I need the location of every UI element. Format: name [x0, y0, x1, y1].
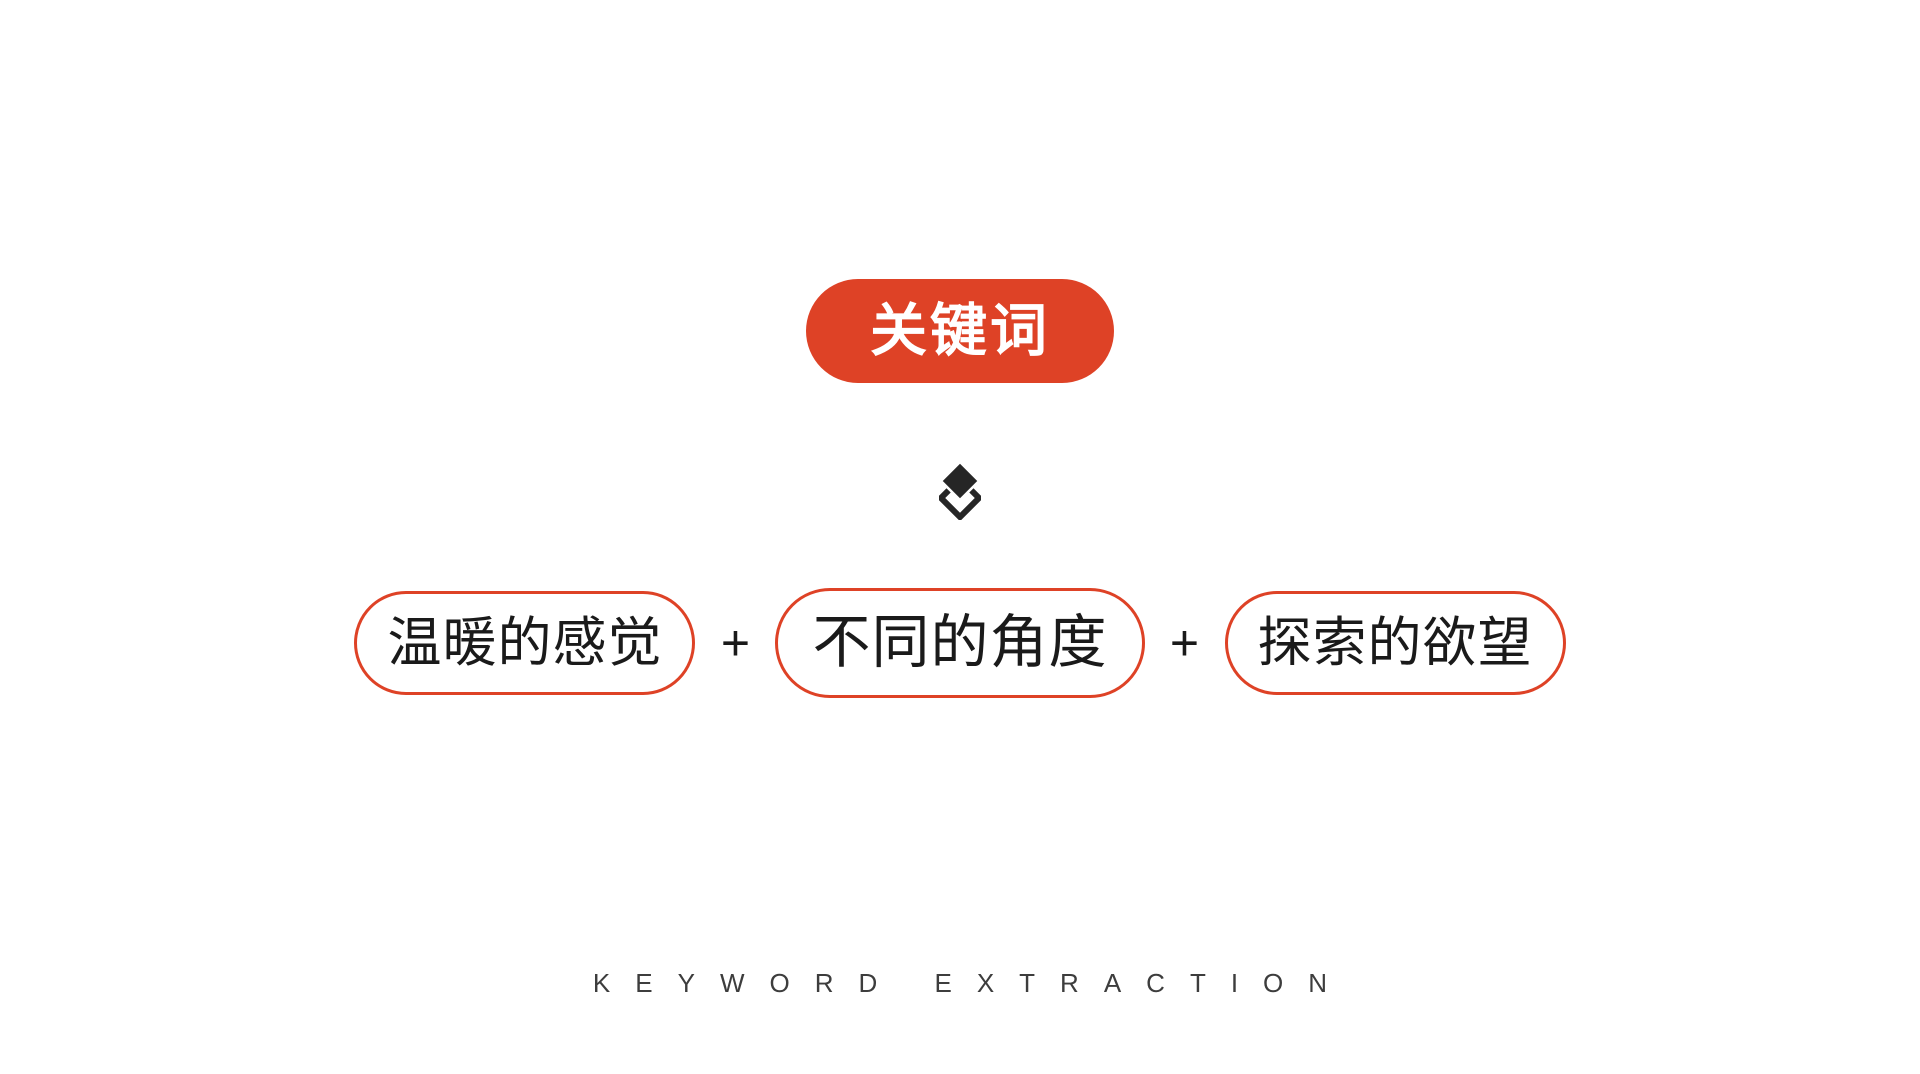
connector-row	[0, 460, 1920, 520]
plus-separator-2: +	[1145, 618, 1225, 668]
badge-row: 关键词	[0, 279, 1920, 383]
caption-row: KEYWORD EXTRACTION	[0, 968, 1920, 999]
plus-separator-1: +	[695, 618, 775, 668]
keyword-pill-3[interactable]: 探索的欲望	[1225, 591, 1566, 695]
keyword-badge[interactable]: 关键词	[806, 279, 1114, 383]
keyword-pill-2[interactable]: 不同的角度	[775, 588, 1144, 698]
keyword-pill-row: 温暖的感觉 + 不同的角度 + 探索的欲望	[0, 588, 1920, 698]
slide-caption: KEYWORD EXTRACTION	[568, 968, 1352, 999]
keyword-pill-1[interactable]: 温暖的感觉	[354, 591, 695, 695]
slide-canvas: 关键词 温暖的感觉 + 不同的角度 + 探索的欲望 KEYWORD EXTRAC…	[0, 0, 1920, 1074]
double-diamond-icon	[939, 460, 981, 520]
